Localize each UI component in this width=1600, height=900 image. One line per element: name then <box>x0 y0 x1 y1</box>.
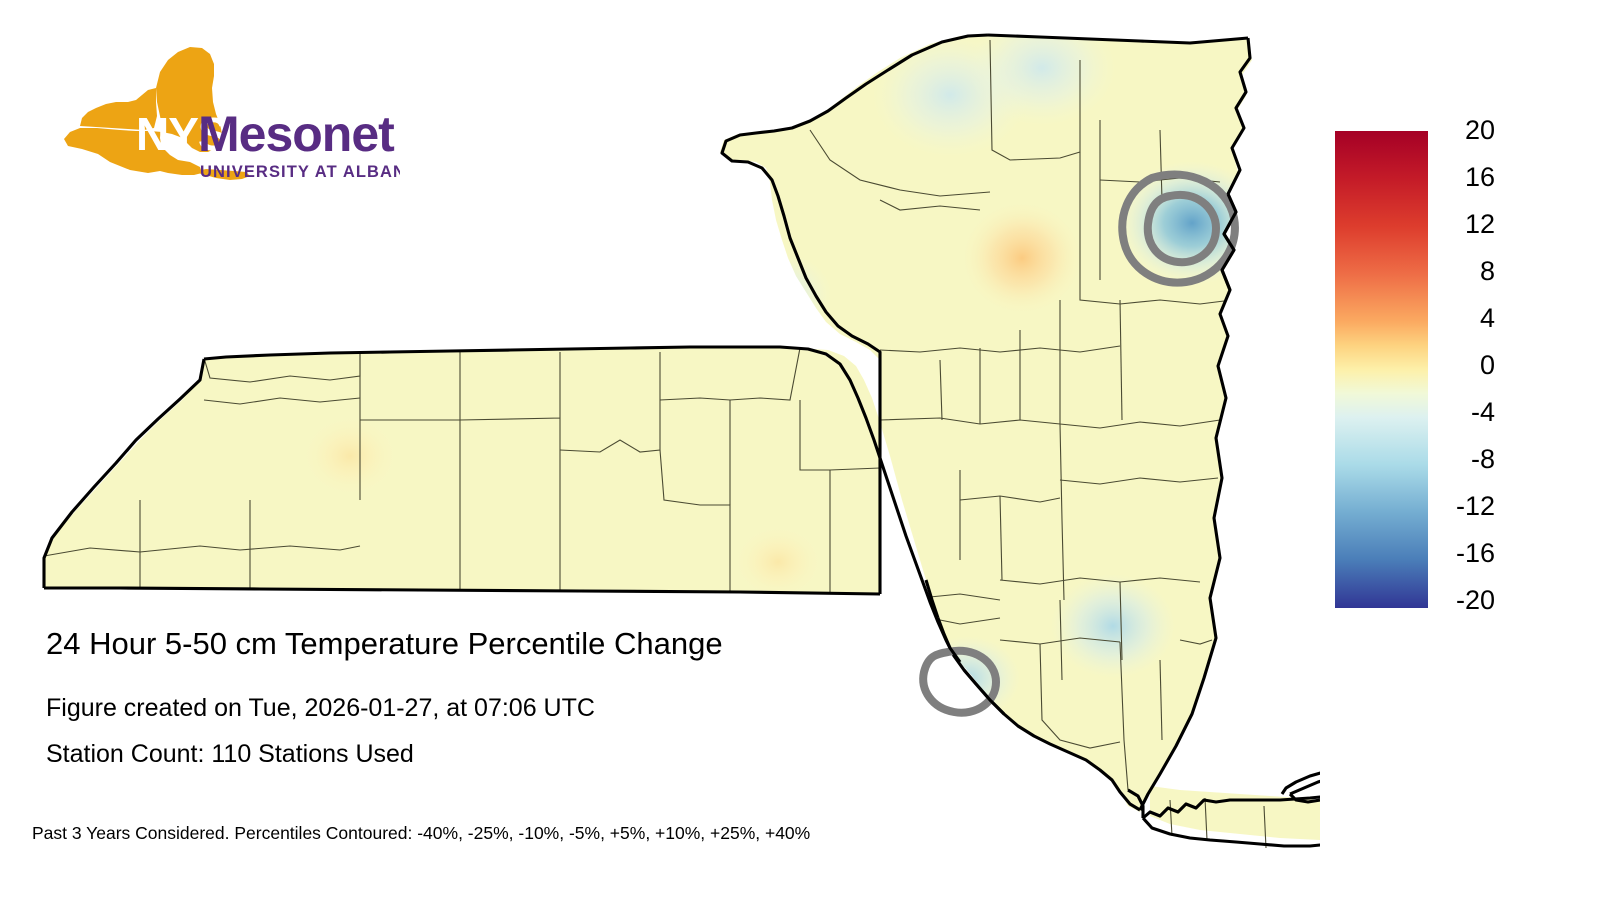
colorbar-tick-16: 16 <box>1433 160 1495 194</box>
colorbar-tick-neg8: -8 <box>1433 442 1495 476</box>
colorbar-tick-neg20: -20 <box>1433 583 1495 617</box>
colorbar-tick-20: 20 <box>1433 113 1495 147</box>
caption-block: 24 Hour 5-50 cm Temperature Percentile C… <box>46 624 1146 777</box>
anomaly-central-north-warm <box>962 202 1082 314</box>
anomaly-southern-tier-warm <box>732 524 824 600</box>
colorbar-gradient <box>1335 131 1428 608</box>
contour-footnote: Past 3 Years Considered. Percentiles Con… <box>32 823 810 844</box>
anomaly-western-warm <box>300 414 400 498</box>
colorbar-tick-labels: 20 16 12 8 4 0 -4 -8 -12 -16 -20 <box>1433 113 1495 628</box>
mesonet-map-figure: NYS Mesonet UNIVERSITY AT ALBANY <box>0 0 1600 900</box>
colorbar: 20 16 12 8 4 0 -4 -8 -12 -16 -20 <box>1335 131 1495 611</box>
colorbar-tick-12: 12 <box>1433 207 1495 241</box>
figure-created-timestamp: Figure created on Tue, 2026-01-27, at 07… <box>46 685 1146 731</box>
colorbar-tick-neg16: -16 <box>1433 536 1495 570</box>
colorbar-tick-0: 0 <box>1433 348 1495 382</box>
page-title: 24 Hour 5-50 cm Temperature Percentile C… <box>46 624 1146 664</box>
colorbar-tick-neg4: -4 <box>1433 395 1495 429</box>
colorbar-tick-8: 8 <box>1433 254 1495 288</box>
station-count-label: Station Count: 110 Stations Used <box>46 731 1146 777</box>
colorbar-tick-neg12: -12 <box>1433 489 1495 523</box>
colorbar-tick-4: 4 <box>1433 301 1495 335</box>
